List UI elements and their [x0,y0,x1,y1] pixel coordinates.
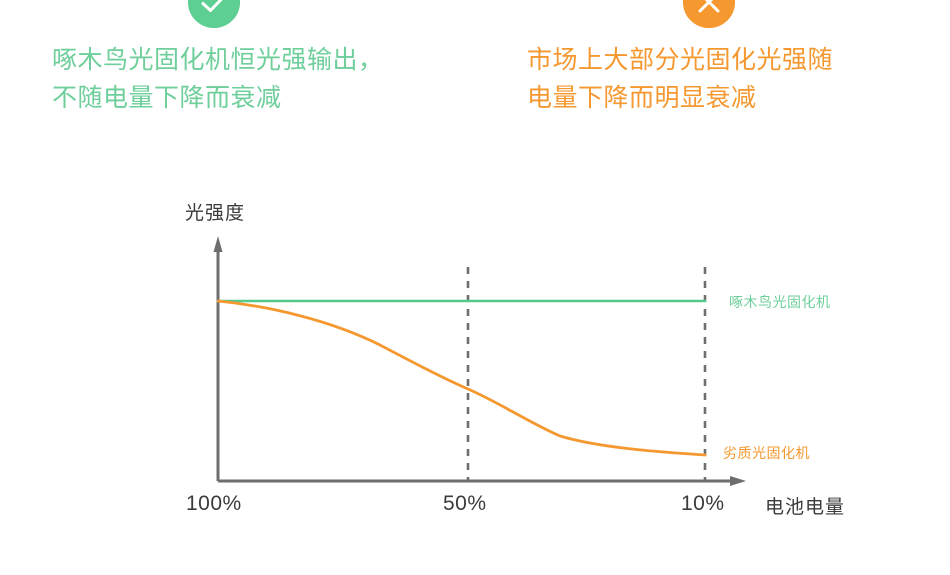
series-label-good: 啄木鸟光固化机 [729,292,831,312]
x-tick-50: 50% [443,492,487,516]
infographic-canvas: 啄木鸟光固化机恒光强输出， 不随电量下降而衰减 市场上大部分光固化光强随 电量下… [0,0,950,575]
x-axis [218,476,746,486]
x-tick-100: 100% [186,492,242,516]
y-axis [214,236,223,481]
series-label-bad: 劣质光固化机 [723,443,810,463]
x-axis-title: 电池电量 [765,492,845,519]
y-axis-title: 光强度 [185,198,245,225]
series-line-bad [218,301,705,455]
intensity-vs-battery-chart [0,0,950,575]
x-tick-10: 10% [681,492,725,516]
